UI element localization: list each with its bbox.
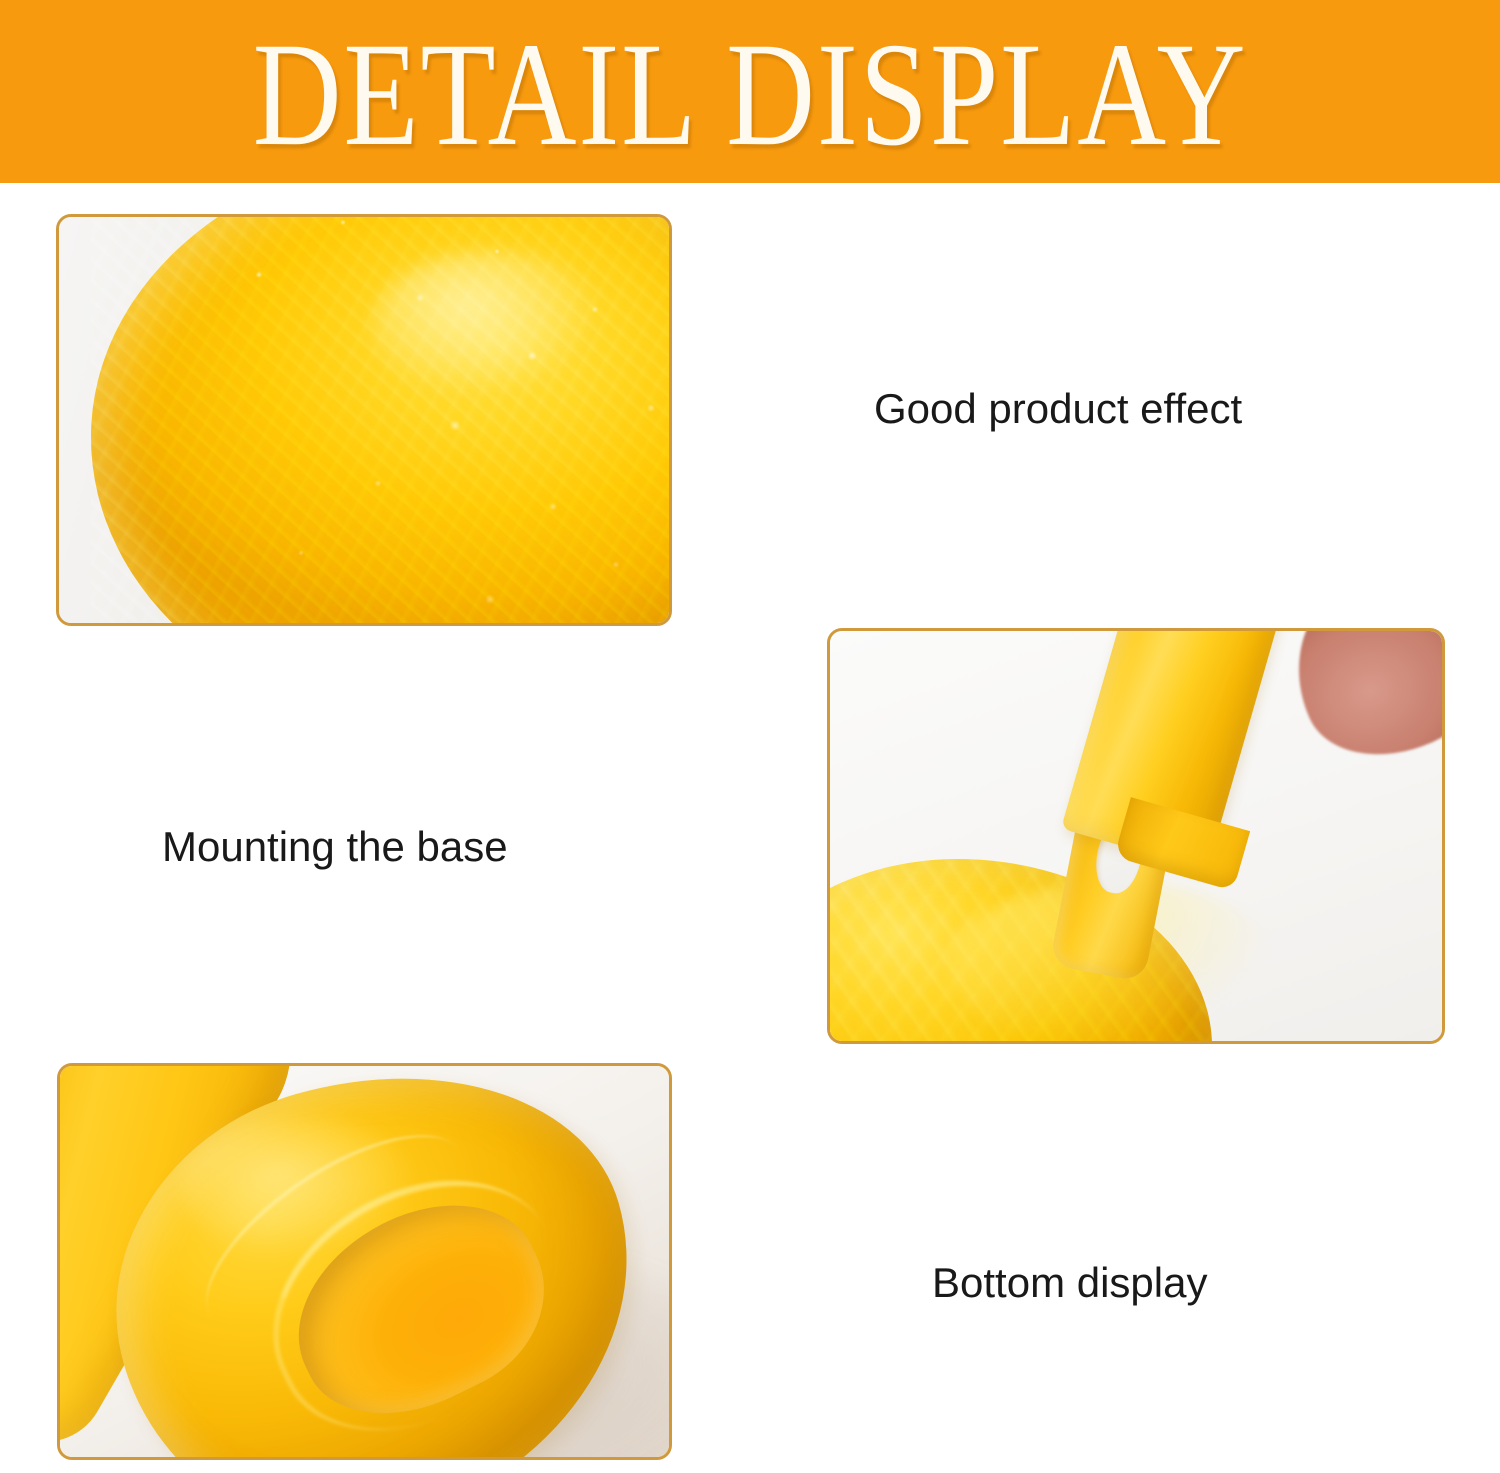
product-texture-image-card[interactable] [56,214,672,626]
caption-good-product-effect: Good product effect [874,384,1242,434]
mounting-base-photo [830,631,1442,1041]
bottom-display-image-card[interactable] [57,1063,672,1460]
gloss-highlight [180,1118,420,1258]
sponge-ball-shape [91,217,669,623]
detail-display-banner: DETAIL DISPLAY [0,0,1500,183]
mounting-base-image-card[interactable] [827,628,1445,1044]
page-title: DETAIL DISPLAY [90,0,1410,183]
caption-mounting-the-base: Mounting the base [162,822,508,872]
product-texture-photo [59,217,669,623]
caption-bottom-display: Bottom display [932,1258,1207,1308]
bottom-display-photo [60,1066,669,1457]
gloss-highlight [371,251,609,402]
